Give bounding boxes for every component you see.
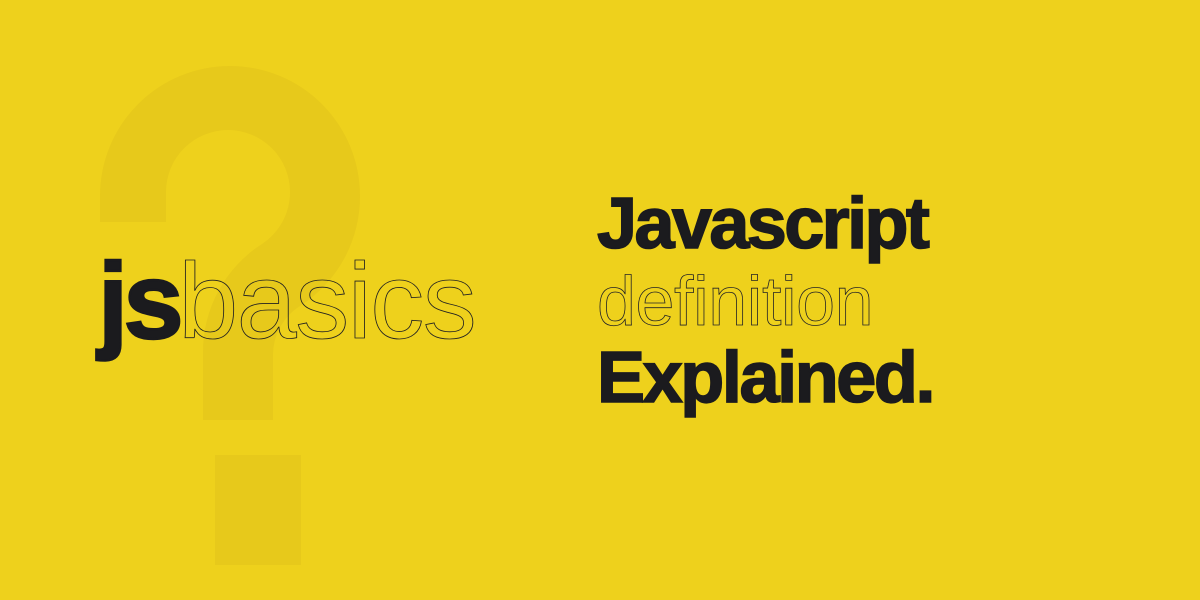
jsbasics-logo: js basics: [98, 247, 475, 355]
headline-line-definition: definition: [597, 264, 1157, 338]
banner-canvas: js basics Javascript definition Explaine…: [0, 0, 1200, 600]
logo-basics-light: basics: [178, 247, 475, 355]
headline-line-explained: Explained.: [597, 340, 1157, 416]
headline-line-javascript: Javascript: [597, 186, 1157, 262]
headline-block: Javascript definition Explained.: [597, 186, 1157, 416]
logo-js-bold: js: [98, 247, 179, 355]
